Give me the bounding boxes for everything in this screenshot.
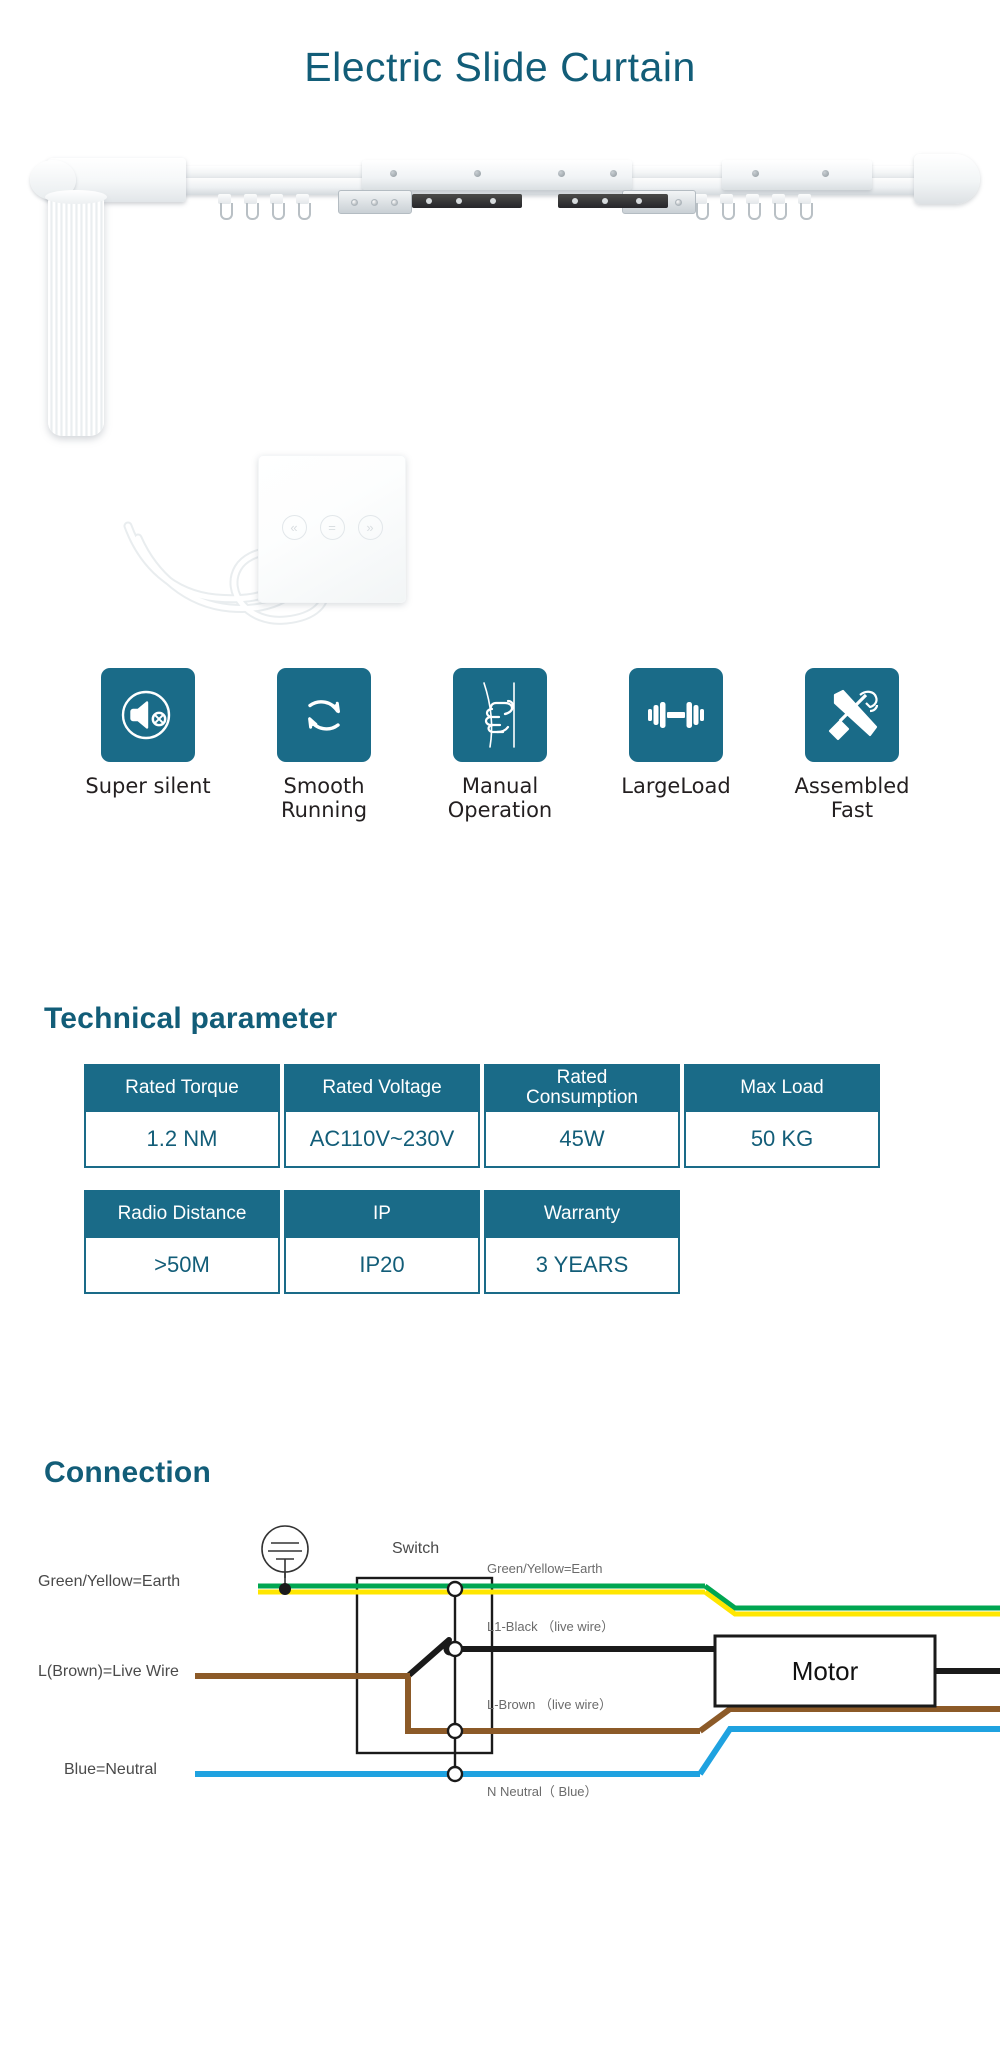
- column-header: Rated Torque: [84, 1064, 280, 1112]
- column-value: 45W: [484, 1112, 680, 1168]
- table-cell-rated-consumption: RatedConsumption 45W: [484, 1064, 680, 1168]
- feature-smooth-running: SmoothRunning: [256, 668, 392, 910]
- curtain-hook: [798, 194, 811, 220]
- table-row: Radio Distance >50M IP IP20 Warranty 3 Y…: [84, 1190, 1000, 1294]
- touch-wall-switch[interactable]: « = »: [258, 455, 406, 603]
- column-value: 50 KG: [684, 1112, 880, 1168]
- table-cell-max-load: Max Load 50 KG: [684, 1064, 880, 1168]
- connection-section: Connection: [0, 1430, 1000, 1816]
- curtain-hook: [746, 194, 759, 220]
- feature-label: ManualOperation: [432, 774, 568, 823]
- technical-parameter-section: Technical parameter Rated Torque 1.2 NM …: [0, 910, 1000, 1430]
- curtain-hook: [772, 194, 785, 220]
- table-cell-rated-torque: Rated Torque 1.2 NM: [84, 1064, 280, 1168]
- screwdriver-hammer-icon: [805, 668, 899, 762]
- label-live-left: L(Brown)=Live Wire: [38, 1663, 179, 1681]
- feature-label: SmoothRunning: [256, 774, 392, 823]
- label-l-brown-right: L-Brown （live wire）: [487, 1694, 612, 1713]
- open-button[interactable]: «: [282, 515, 307, 540]
- column-value: AC110V~230V: [284, 1112, 480, 1168]
- feature-label: Super silent: [80, 774, 216, 798]
- drive-belt-bar-right: [558, 194, 668, 208]
- table-cell-radio-distance: Radio Distance >50M: [84, 1190, 280, 1294]
- column-header: IP: [284, 1190, 480, 1238]
- column-header: Max Load: [684, 1064, 880, 1112]
- table-cell-ip: IP IP20: [284, 1190, 480, 1294]
- column-header: Rated Voltage: [284, 1064, 480, 1112]
- mount-bracket-right: [722, 160, 872, 190]
- wiring-diagram: Green/Yellow=Earth L(Brown)=Live Wire Bl…: [0, 1516, 1000, 1816]
- speaker-mute-icon: [101, 668, 195, 762]
- curtain-track-assembly: [22, 138, 982, 268]
- label-n-neutral-right: N Neutral（ Blue）: [487, 1781, 598, 1800]
- hero-product-image: « = »: [0, 120, 1000, 660]
- belt-carrier-left: [338, 190, 412, 214]
- mount-bracket-center: [362, 160, 632, 190]
- label-l1-black-right: L1-Black （live wire）: [487, 1616, 614, 1635]
- column-header: RatedConsumption: [484, 1064, 680, 1112]
- rail-end-cap: [914, 154, 980, 204]
- column-header: Radio Distance: [84, 1190, 280, 1238]
- curtain-hook: [244, 194, 257, 220]
- feature-label: AssembledFast: [784, 774, 920, 823]
- label-neutral-left: Blue=Neutral: [64, 1761, 157, 1779]
- label-earth-right: Green/Yellow=Earth: [487, 1561, 603, 1576]
- connection-heading: Connection: [0, 1456, 1000, 1490]
- technical-table: Rated Torque 1.2 NM Rated Voltage AC110V…: [0, 1036, 1000, 1294]
- curtain-hook: [218, 194, 231, 220]
- close-button[interactable]: »: [358, 515, 383, 540]
- drive-belt-bar-left: [412, 194, 522, 208]
- feature-assembled-fast: AssembledFast: [784, 668, 920, 910]
- feature-icon-row: Super silent SmoothRunning: [0, 660, 1000, 910]
- label-switch: Switch: [392, 1540, 439, 1558]
- stop-button[interactable]: =: [320, 515, 345, 540]
- feature-super-silent: Super silent: [80, 668, 216, 910]
- column-value: IP20: [284, 1238, 480, 1294]
- column-value: >50M: [84, 1238, 280, 1294]
- table-row: Rated Torque 1.2 NM Rated Voltage AC110V…: [84, 1064, 1000, 1168]
- feature-manual-operation: ManualOperation: [432, 668, 568, 910]
- label-earth-left: Green/Yellow=Earth: [38, 1573, 180, 1591]
- curtain-hook: [720, 194, 733, 220]
- curtain-hook: [296, 194, 309, 220]
- circular-arrows-icon: [277, 668, 371, 762]
- feature-large-load: LargeLoad: [608, 668, 744, 910]
- column-value: 3 YEARS: [484, 1238, 680, 1294]
- technical-heading: Technical parameter: [0, 1002, 1000, 1036]
- table-cell-rated-voltage: Rated Voltage AC110V~230V: [284, 1064, 480, 1168]
- column-header: Warranty: [484, 1190, 680, 1238]
- feature-label: LargeLoad: [608, 774, 744, 798]
- table-cell-warranty: Warranty 3 YEARS: [484, 1190, 680, 1294]
- motor-label: Motor: [715, 1636, 935, 1706]
- hand-pull-curtain-icon: [453, 668, 547, 762]
- motor-body: [48, 196, 104, 436]
- column-value: 1.2 NM: [84, 1112, 280, 1168]
- curtain-hook: [270, 194, 283, 220]
- dumbbell-icon: [629, 668, 723, 762]
- page-title: Electric Slide Curtain: [0, 0, 1000, 120]
